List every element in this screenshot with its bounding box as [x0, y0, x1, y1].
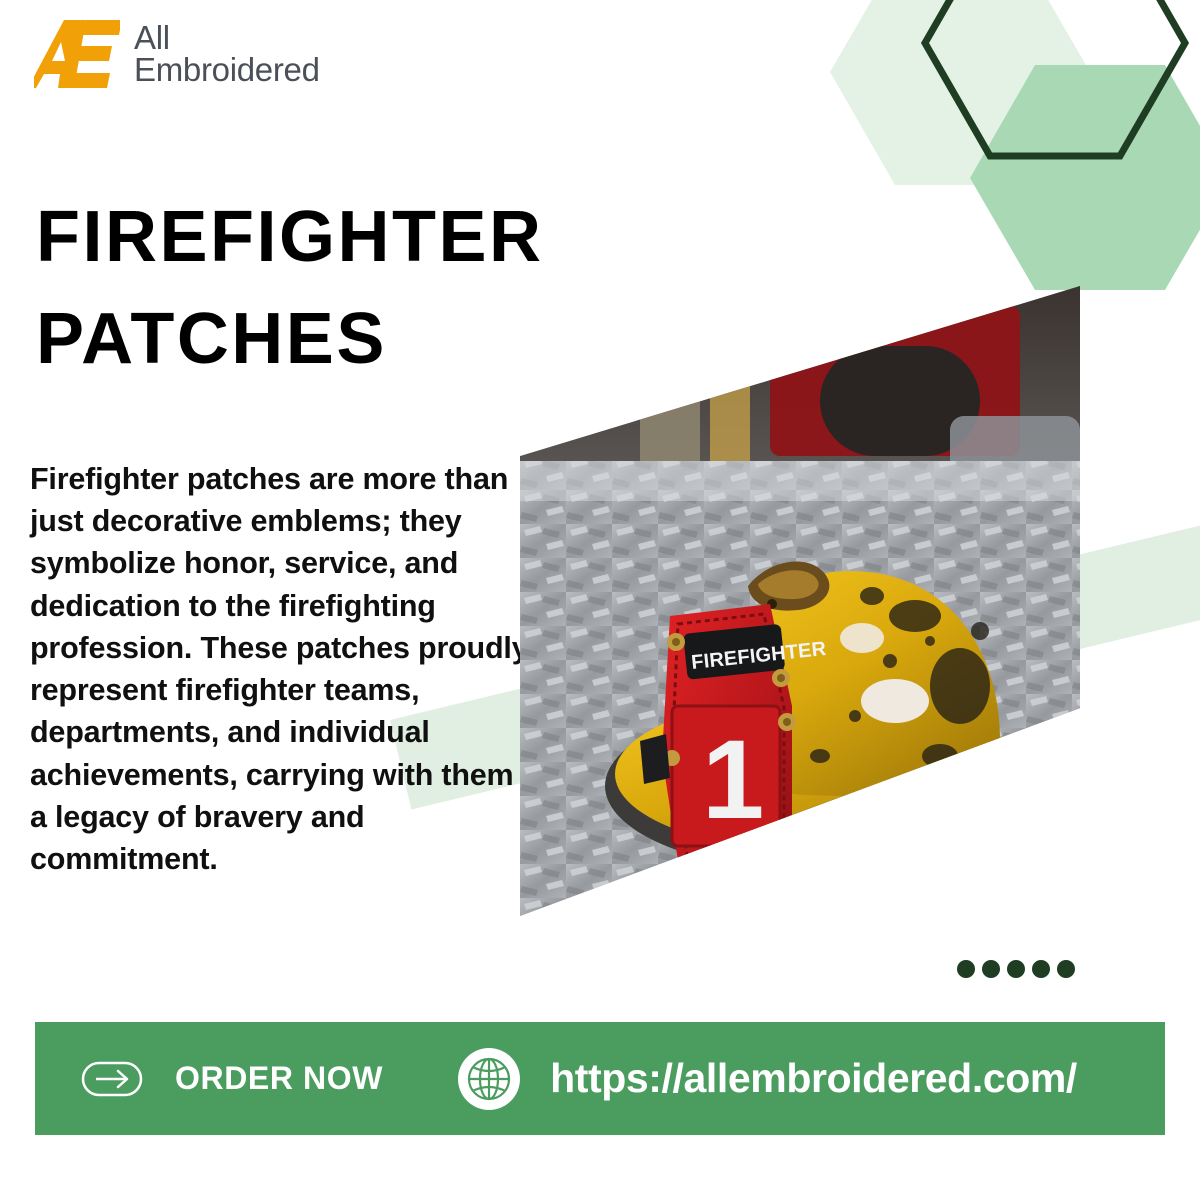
arrow-right-icon[interactable]: [81, 1061, 143, 1097]
brand-wordmark-line2: Embroidered: [134, 54, 320, 86]
page-title-line1: FIREFIGHTER: [36, 186, 656, 288]
body-paragraph: Firefighter patches are more than just d…: [30, 458, 530, 880]
page-title: FIREFIGHTER PATCHES: [36, 186, 656, 390]
order-now-label[interactable]: ORDER NOW: [175, 1060, 383, 1097]
band-edge-mask: [1160, 640, 1200, 900]
decor-dot: [1057, 960, 1075, 978]
hexagon-outline-shape: [925, 0, 1185, 156]
decor-dot: [982, 960, 1000, 978]
hexagon-light-shape: [830, 0, 1090, 185]
svg-text:1: 1: [702, 717, 764, 842]
cta-footer-bar[interactable]: ORDER NOW https://allembroidered.com/: [35, 1022, 1165, 1135]
brand-logo[interactable]: All Embroidered: [34, 18, 320, 90]
decor-dot: [957, 960, 975, 978]
website-url[interactable]: https://allembroidered.com/: [550, 1055, 1077, 1102]
page-title-line2: PATCHES: [36, 288, 656, 390]
decor-dot: [1007, 960, 1025, 978]
dot-row-decoration: [957, 960, 1075, 978]
hexagon-medium-shape: [970, 65, 1200, 290]
globe-icon: [458, 1048, 520, 1110]
decor-dot: [1032, 960, 1050, 978]
globe-icon-wrapper: [458, 1048, 520, 1110]
brand-wordmark: All Embroidered: [134, 22, 320, 85]
ae-monogram-icon: [34, 18, 120, 90]
brand-wordmark-line1: All: [134, 22, 320, 54]
